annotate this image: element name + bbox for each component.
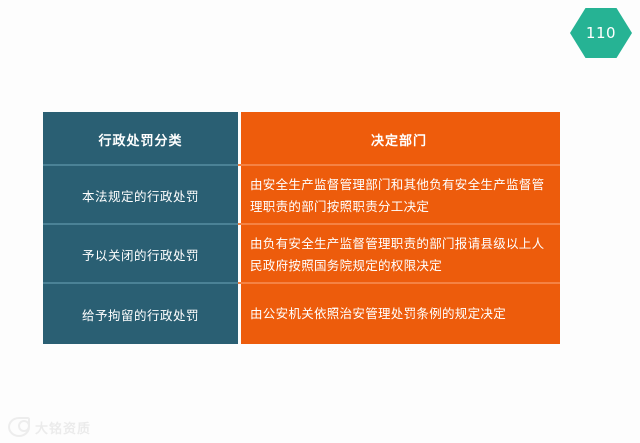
watermark: 大铭资质 bbox=[8, 417, 91, 437]
row-department-text: 由安全生产监督管理部门和其他负有安全生产监督管理职责的部门按照职责分工决定 bbox=[250, 174, 548, 218]
row-category-cell: 给予拘留的行政处罚 bbox=[43, 284, 238, 344]
row-department-text: 由负有安全生产监督管理职责的部门报请县级以上人民政府按照国务院规定的权限决定 bbox=[250, 233, 548, 277]
table-row: 本法规定的行政处罚 由安全生产监督管理部门和其他负有安全生产监督管理职责的部门按… bbox=[43, 166, 560, 225]
table-row: 给予拘留的行政处罚 由公安机关依照治安管理处罚条例的规定决定 bbox=[43, 284, 560, 344]
row-department-cell: 由负有安全生产监督管理职责的部门报请县级以上人民政府按照国务院规定的权限决定 bbox=[238, 225, 560, 284]
page-number-badge: 110 bbox=[570, 8, 632, 58]
header-cell-department: 决定部门 bbox=[238, 112, 560, 166]
row-category-text: 予以关闭的行政处罚 bbox=[82, 245, 199, 264]
header-label-department: 决定部门 bbox=[371, 130, 427, 149]
table-header-row: 行政处罚分类 决定部门 bbox=[43, 112, 560, 166]
row-category-cell: 予以关闭的行政处罚 bbox=[43, 225, 238, 284]
row-department-text: 由公安机关依照治安管理处罚条例的规定决定 bbox=[250, 303, 506, 325]
logo-mark-icon bbox=[8, 417, 30, 437]
row-category-text: 给予拘留的行政处罚 bbox=[82, 305, 199, 324]
header-cell-category: 行政处罚分类 bbox=[43, 112, 238, 166]
table-row: 予以关闭的行政处罚 由负有安全生产监督管理职责的部门报请县级以上人民政府按照国务… bbox=[43, 225, 560, 284]
header-label-category: 行政处罚分类 bbox=[98, 130, 182, 149]
page-number-label: 110 bbox=[586, 26, 616, 41]
row-category-cell: 本法规定的行政处罚 bbox=[43, 166, 238, 225]
hexagon-shape: 110 bbox=[570, 8, 632, 58]
row-department-cell: 由公安机关依照治安管理处罚条例的规定决定 bbox=[238, 284, 560, 344]
penalty-authority-table: 行政处罚分类 决定部门 本法规定的行政处罚 由安全生产监督管理部门和其他负有安全… bbox=[43, 112, 560, 344]
row-category-text: 本法规定的行政处罚 bbox=[82, 186, 199, 205]
row-department-cell: 由安全生产监督管理部门和其他负有安全生产监督管理职责的部门按照职责分工决定 bbox=[238, 166, 560, 225]
watermark-text: 大铭资质 bbox=[35, 418, 91, 437]
